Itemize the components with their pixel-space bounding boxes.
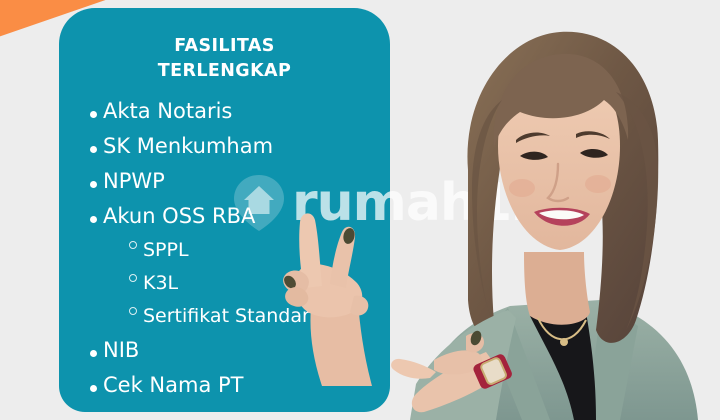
bullet-icon (83, 375, 103, 395)
list-item-label: NPWP (103, 171, 165, 192)
list-item-label: NIB (103, 340, 139, 361)
ring-bullet-icon (123, 307, 143, 315)
pointing-hand-up (268, 196, 388, 386)
bullet-icon (83, 101, 103, 121)
presenter-photo (390, 0, 720, 420)
sub-list-item-label: K3L (143, 274, 178, 293)
card-title-line2: TERLENGKAP (59, 59, 390, 84)
card-title: FASILITAS TERLENGKAP (59, 34, 390, 85)
bullet-icon (83, 206, 103, 226)
sub-list-item-label: SPPL (143, 241, 189, 260)
list-item: Akta Notaris (83, 101, 382, 122)
ring-bullet-icon (123, 274, 143, 282)
card-title-line1: FASILITAS (59, 34, 390, 59)
list-item-label: Cek Nama PT (103, 375, 244, 396)
list-item: NPWP (83, 171, 382, 192)
list-item-label: SK Menkumham (103, 136, 273, 157)
bullet-icon (83, 340, 103, 360)
promo-image-canvas: rumah123 FASILITAS TERLENGKAP Akta Notar… (0, 0, 720, 420)
list-item: SK Menkumham (83, 136, 382, 157)
ring-bullet-icon (123, 241, 143, 249)
list-item-label: Akun OSS RBA (103, 206, 255, 227)
bullet-icon (83, 136, 103, 156)
bullet-icon (83, 171, 103, 191)
list-item-label: Akta Notaris (103, 101, 232, 122)
